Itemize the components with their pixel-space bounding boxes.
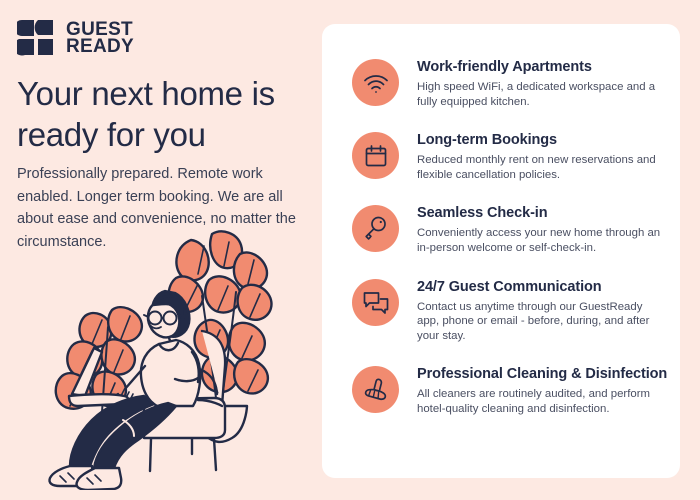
feature-title: Seamless Check-in — [417, 204, 667, 222]
feature-text: Long-term Bookings Reduced monthly rent … — [417, 130, 667, 182]
key-icon — [352, 205, 399, 252]
broom-icon — [352, 366, 399, 413]
feature-list: Work-friendly Apartments High speed WiFi… — [352, 57, 672, 417]
feature-description: Conveniently access your new home throug… — [417, 226, 667, 255]
features-card: Work-friendly Apartments High speed WiFi… — [322, 24, 680, 478]
feature-description: Contact us anytime through our GuestRead… — [417, 300, 667, 344]
feature-item-guest-communication[interactable]: 24/7 Guest Communication Contact us anyt… — [352, 277, 672, 344]
calendar-icon — [352, 132, 399, 179]
feature-description: All cleaners are routinely audited, and … — [417, 387, 667, 416]
brand-logo[interactable]: GUEST READY — [17, 19, 134, 56]
feature-description: Reduced monthly rent on new reservations… — [417, 153, 667, 182]
feature-item-long-term-bookings[interactable]: Long-term Bookings Reduced monthly rent … — [352, 130, 672, 182]
feature-item-professional-cleaning[interactable]: Professional Cleaning & Disinfection All… — [352, 364, 672, 416]
hero-panel: GUEST READY Your next home is ready for … — [0, 0, 322, 500]
feature-title: Long-term Bookings — [417, 131, 667, 149]
feature-title: 24/7 Guest Communication — [417, 278, 667, 296]
page-title: Your next home is ready for you — [17, 73, 312, 155]
feature-item-seamless-check-in[interactable]: Seamless Check-in Conveniently access yo… — [352, 203, 672, 255]
brand-name-line1: GUEST — [66, 21, 134, 38]
hero-illustration — [26, 226, 316, 490]
feature-text: Professional Cleaning & Disinfection All… — [417, 364, 667, 416]
feature-title: Work-friendly Apartments — [417, 58, 667, 76]
wifi-icon — [352, 59, 399, 106]
brand-name-line2: READY — [66, 38, 134, 55]
brand-wordmark: GUEST READY — [66, 21, 134, 55]
feature-text: Seamless Check-in Conveniently access yo… — [417, 203, 667, 255]
feature-item-work-friendly-apartments[interactable]: Work-friendly Apartments High speed WiFi… — [352, 57, 672, 109]
guestready-quadrant-logo-icon — [17, 19, 55, 56]
feature-description: High speed WiFi, a dedicated workspace a… — [417, 80, 667, 109]
feature-title: Professional Cleaning & Disinfection — [417, 365, 667, 383]
feature-text: Work-friendly Apartments High speed WiFi… — [417, 57, 667, 109]
chat-bubbles-icon — [352, 279, 399, 326]
feature-text: 24/7 Guest Communication Contact us anyt… — [417, 277, 667, 344]
